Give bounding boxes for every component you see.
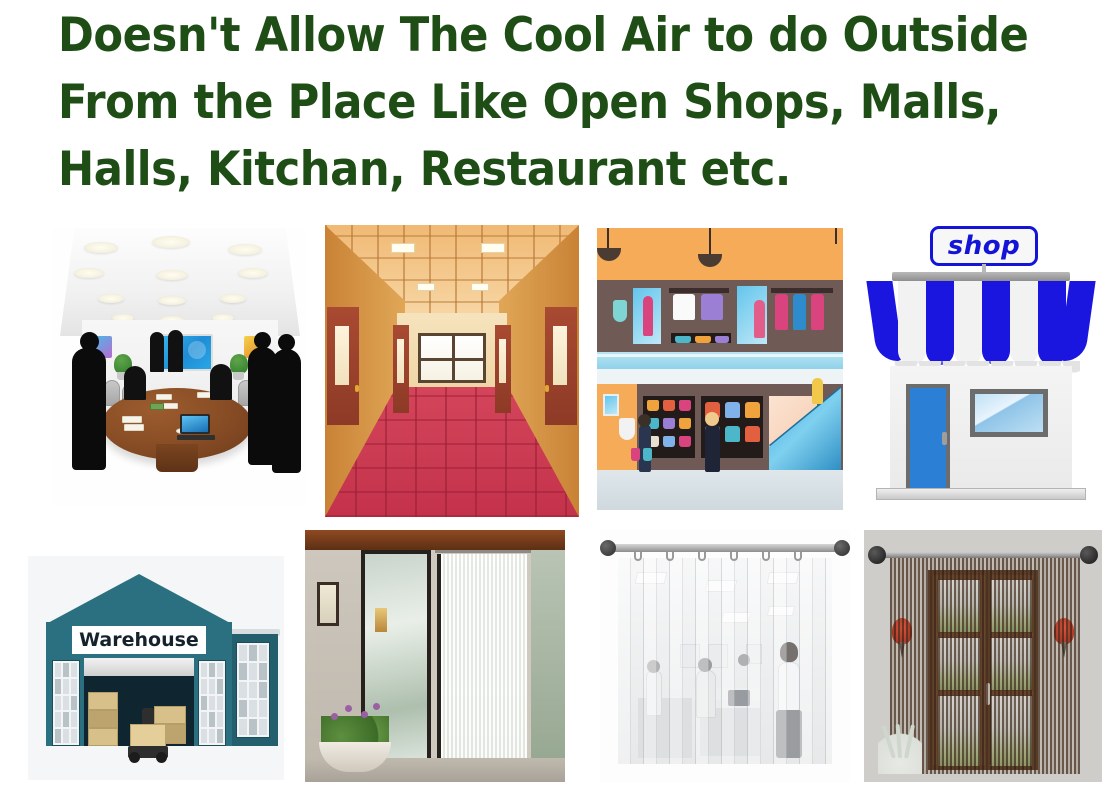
shop-window: [970, 389, 1048, 437]
window-pane: [217, 729, 223, 743]
window-pane: [239, 719, 247, 735]
right-glass-panel: [531, 550, 565, 762]
warehouse-window: [52, 660, 80, 746]
merchandise-box: [715, 336, 729, 343]
clothing-item: [775, 294, 788, 330]
awning-stripe-white: [898, 281, 926, 365]
ceiling-light-icon: [471, 283, 489, 291]
awning-stripe-white: [954, 281, 982, 365]
mesh-screen-curtain: [437, 554, 527, 764]
ceiling-light-icon: [391, 243, 415, 253]
rod-finial: [868, 546, 886, 564]
awning-stripe-white: [1010, 281, 1038, 365]
warehouse-window: [198, 660, 226, 746]
person-silhouette: [272, 349, 301, 473]
window-pane: [259, 645, 267, 661]
tshirt: [745, 402, 760, 418]
forklift-wheel: [156, 752, 167, 763]
awning-stripe-blue: [926, 281, 954, 365]
window-pane: [71, 712, 77, 726]
paper-document: [124, 424, 144, 431]
clothing-item: [793, 294, 806, 330]
image-warehouse: Warehouse: [28, 556, 284, 780]
window-pane: [259, 663, 267, 679]
window-pane: [217, 712, 223, 726]
warehouse-roller-shutter: [84, 658, 194, 676]
flower: [373, 703, 380, 710]
window-pane: [63, 729, 69, 743]
image-door-screen-curtain: [305, 530, 565, 782]
plant-leaf: [882, 725, 896, 759]
curtain-hook: [794, 552, 802, 561]
shop-awning: [872, 281, 1090, 371]
ceiling-light-icon: [481, 243, 505, 253]
shop-base-step: [876, 488, 1086, 500]
standing-person-silhouette: [150, 332, 164, 372]
clothing-item: [701, 294, 723, 320]
handbag: [679, 400, 691, 411]
shopper-on-escalator: [812, 378, 823, 404]
window-pane: [71, 696, 77, 710]
standing-person-silhouette: [168, 330, 183, 372]
ceiling-light-icon: [84, 242, 118, 253]
window-pane: [55, 712, 61, 726]
plant-leaf: [896, 724, 902, 758]
window-pane: [201, 712, 207, 726]
ceiling-light-icon: [220, 294, 246, 303]
shopping-bag: [631, 448, 640, 461]
merchandise-box: [675, 336, 691, 343]
plant-icon: [230, 354, 248, 374]
title-line-3: Halls, Kitchan, Restaurant etc.: [58, 136, 996, 203]
door-glass-panel: [553, 326, 566, 385]
clothing-item: [811, 294, 824, 330]
clothes-rail: [669, 288, 729, 293]
shopping-bag: [643, 448, 652, 461]
shopper-silhouette: [754, 300, 765, 338]
folder: [150, 403, 164, 410]
door-knob[interactable]: [355, 385, 359, 392]
ceiling-light-icon: [156, 270, 188, 280]
clothes-rail: [771, 288, 833, 293]
shop-door-handle[interactable]: [942, 432, 947, 445]
flower: [345, 705, 352, 712]
curtain-rod: [435, 550, 531, 553]
curtain-hook: [762, 552, 770, 561]
window-pane: [63, 712, 69, 726]
meeting-table-base: [156, 444, 198, 472]
flower: [361, 711, 368, 718]
wooden-soffit: [305, 530, 565, 550]
cardboard-box: [88, 692, 118, 710]
warehouse-window: [236, 642, 270, 738]
mannequin-dress: [619, 418, 635, 440]
forklift-wheel: [129, 752, 140, 763]
handbag: [679, 418, 691, 429]
window-pane: [209, 729, 215, 743]
curtain-hook: [666, 552, 674, 561]
decorative-plant: [878, 720, 922, 774]
window-pane: [55, 679, 61, 693]
corridor-door[interactable]: [495, 325, 511, 413]
corridor-window: [418, 333, 486, 383]
seated-person-silhouette: [124, 366, 146, 400]
mall-floor: [597, 470, 843, 510]
presentation-screen: [156, 334, 213, 371]
shopper-head: [705, 412, 719, 426]
wall-picture: [603, 394, 619, 416]
flower: [331, 713, 338, 720]
person-silhouette: [72, 348, 106, 470]
shopper-head: [638, 414, 651, 427]
window-pane: [217, 696, 223, 710]
window-pane: [239, 700, 247, 716]
window-pane: [249, 645, 257, 661]
page-title: Doesn't Allow The Cool Air to do Outside…: [58, 2, 996, 203]
window-pane: [201, 729, 207, 743]
tshirt: [725, 402, 740, 418]
door-knob[interactable]: [545, 385, 549, 392]
warehouse-sign-label: Warehouse: [79, 629, 199, 651]
window-pane: [71, 679, 77, 693]
ceiling-light-icon: [152, 236, 190, 248]
shopper-female: [705, 424, 720, 472]
rod-finial: [1080, 546, 1098, 564]
title-line-2: From the Place Like Open Shops, Malls,: [58, 69, 996, 136]
shopper-silhouette: [643, 296, 653, 336]
window-pane: [249, 719, 257, 735]
ceiling-light-icon: [74, 268, 104, 278]
plant-pot: [233, 372, 244, 380]
curtain-rod: [874, 552, 1092, 558]
image-pvc-strip-curtain: [600, 530, 850, 782]
window-pane: [217, 679, 223, 693]
door-glass-panel: [499, 339, 506, 383]
interior-sconce-light: [375, 608, 387, 632]
pendant-lamp-cord: [709, 228, 711, 254]
window-pane: [259, 719, 267, 735]
corridor-door[interactable]: [545, 307, 577, 425]
paper-document: [156, 394, 172, 400]
door-glass-panel: [335, 326, 348, 385]
curtain-rod: [604, 544, 846, 552]
infographic-page: Doesn't Allow The Cool Air to do Outside…: [0, 0, 1114, 787]
plant-leaf: [904, 724, 915, 758]
handbag: [663, 418, 675, 429]
window-pane: [55, 729, 61, 743]
window-pane: [71, 729, 77, 743]
ceiling-light-icon: [158, 296, 186, 305]
window-pane: [209, 712, 215, 726]
outdoor-wall-lamp-icon: [317, 582, 339, 626]
window-pane: [259, 682, 267, 698]
clothing-item: [673, 294, 695, 320]
warehouse-roof: [46, 574, 232, 624]
cardboard-box: [88, 710, 118, 728]
door-glass-panel: [397, 339, 404, 383]
merchandise-box: [695, 336, 711, 343]
handbag: [663, 436, 675, 447]
seated-person-silhouette: [210, 364, 232, 400]
pendant-lamp-cord: [607, 228, 609, 248]
window-pane: [259, 700, 267, 716]
corridor-door[interactable]: [393, 325, 409, 413]
rod-end-knob: [834, 540, 850, 556]
ceiling-light-icon: [98, 294, 124, 303]
image-shopping-mall: [597, 228, 843, 510]
title-line-1: Doesn't Allow The Cool Air to do Outside: [58, 2, 996, 69]
ceiling-light-icon: [238, 268, 268, 278]
laptop-icon: [180, 414, 210, 434]
shop-sign: shop: [930, 226, 1038, 266]
pvc-strip-overlay: [618, 558, 832, 764]
window-pane: [209, 679, 215, 693]
awning-stripe-blue: [982, 281, 1010, 365]
window-pane: [249, 663, 257, 679]
cardboard-box: [88, 728, 118, 746]
image-shop-storefront: shop: [866, 224, 1096, 514]
window-pane: [63, 679, 69, 693]
corridor-door[interactable]: [327, 307, 359, 425]
window-pane: [201, 679, 207, 693]
image-corridor: [325, 225, 579, 517]
window-pane: [55, 663, 61, 677]
shop-header-bar: [892, 272, 1070, 281]
window-pane: [209, 663, 215, 677]
shop-sign-label: shop: [948, 231, 1020, 261]
mall-level-divider: [597, 369, 843, 384]
window-pane: [239, 645, 247, 661]
mannequin-dress: [613, 300, 627, 322]
window-pane: [217, 663, 223, 677]
window-pane: [249, 700, 257, 716]
paper-document: [122, 416, 142, 423]
window-pane: [209, 696, 215, 710]
image-string-curtain-door: [864, 530, 1102, 782]
window-pane: [201, 696, 207, 710]
handbag: [647, 400, 659, 411]
tshirt: [745, 426, 760, 442]
curtain-hook: [730, 552, 738, 561]
image-conference-hall: [52, 228, 305, 506]
window-pane: [239, 682, 247, 698]
window-pane: [201, 663, 207, 677]
ceiling-light-icon: [228, 244, 262, 255]
forklift-icon: [128, 708, 168, 754]
ceiling-light-icon: [417, 283, 435, 291]
window-pane: [249, 682, 257, 698]
tshirt: [725, 426, 740, 442]
pendant-lamp-cord: [835, 228, 837, 244]
handbag: [663, 400, 675, 411]
curtain-hook: [698, 552, 706, 561]
window-pane: [63, 696, 69, 710]
window-pane: [55, 696, 61, 710]
rod-end-knob: [600, 540, 616, 556]
warehouse-sign: Warehouse: [72, 626, 206, 654]
curtain-hook: [634, 552, 642, 561]
window-pane: [239, 663, 247, 679]
window-pane: [71, 663, 77, 677]
handbag: [679, 436, 691, 447]
mall-railing-bar: [597, 354, 843, 357]
window-pane: [63, 663, 69, 677]
